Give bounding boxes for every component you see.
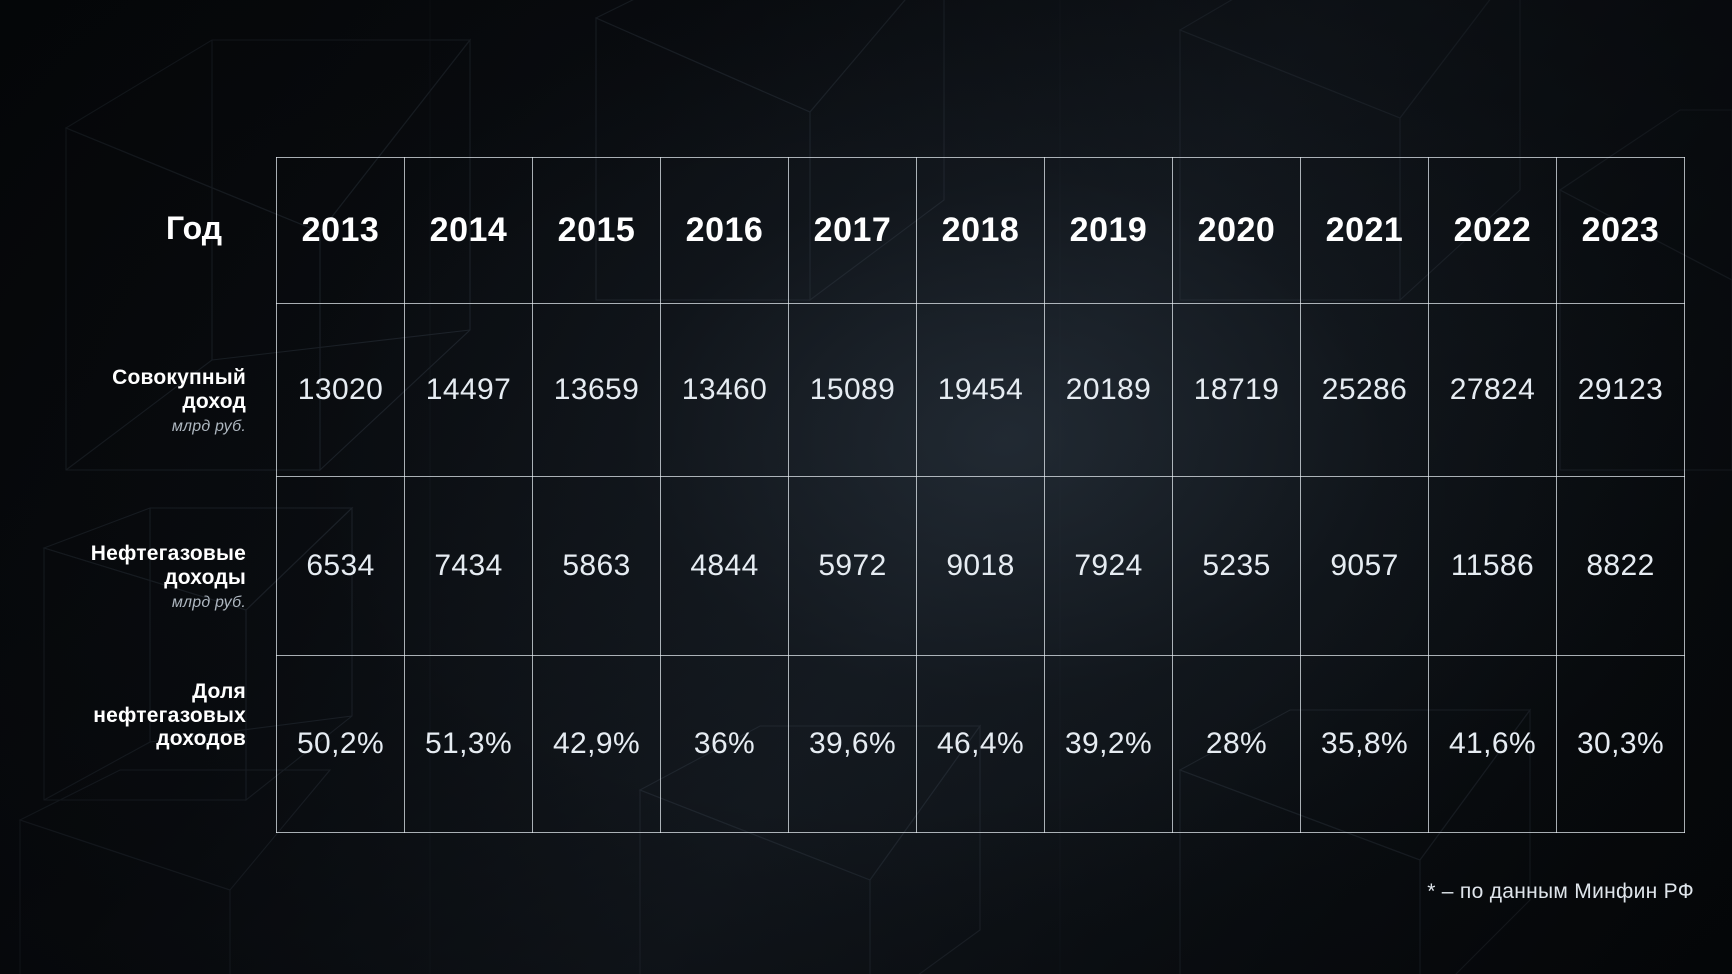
column-header-year: 2019 (1045, 158, 1173, 304)
table-header-row: 2013 2014 2015 2016 2017 2018 2019 2020 … (277, 158, 1685, 304)
table-row: 13020 14497 13659 13460 15089 19454 2018… (277, 304, 1685, 477)
table-cell: 19454 (917, 304, 1045, 477)
row-label-oil-gas-income-unit: млрд руб. (0, 594, 246, 612)
table-cell: 13659 (533, 304, 661, 477)
table-cell: 39,6% (789, 656, 917, 833)
table-cell: 5972 (789, 477, 917, 656)
column-header-year: 2013 (277, 158, 405, 304)
table-cell: 8822 (1557, 477, 1685, 656)
row-label-oil-gas-income: Нефтегазовые доходы млрд руб. (0, 542, 246, 612)
table-cell: 5235 (1173, 477, 1301, 656)
table-cell: 42,9% (533, 656, 661, 833)
table-cell: 7924 (1045, 477, 1173, 656)
table-cell: 29123 (1557, 304, 1685, 477)
row-label-year: Год (0, 210, 246, 247)
row-label-oil-gas-income-line2: доходы (164, 566, 246, 589)
row-label-oil-gas-share: Доля нефтегазовых доходов (0, 680, 246, 751)
table-cell: 6534 (277, 477, 405, 656)
table-cell: 14497 (405, 304, 533, 477)
row-label-total-income-line2: доход (182, 390, 246, 413)
table-cell: 5863 (533, 477, 661, 656)
table-cell: 50,2% (277, 656, 405, 833)
column-header-year: 2020 (1173, 158, 1301, 304)
table-cell: 51,3% (405, 656, 533, 833)
row-label-oil-gas-share-line1: Доля (192, 680, 246, 703)
table-cell: 46,4% (917, 656, 1045, 833)
table-cell: 13460 (661, 304, 789, 477)
data-table: 2013 2014 2015 2016 2017 2018 2019 2020 … (276, 157, 1685, 833)
table-cell: 20189 (1045, 304, 1173, 477)
source-footnote: * – по данным Минфин РФ (1427, 880, 1694, 904)
table-cell: 30,3% (1557, 656, 1685, 833)
table-cell: 27824 (1429, 304, 1557, 477)
row-label-oil-gas-share-line3: доходов (156, 727, 246, 750)
table-cell: 28% (1173, 656, 1301, 833)
table-cell: 39,2% (1045, 656, 1173, 833)
table-cell: 9018 (917, 477, 1045, 656)
row-label-oil-gas-income-line1: Нефтегазовые (91, 542, 246, 565)
table-cell: 7434 (405, 477, 533, 656)
column-header-year: 2022 (1429, 158, 1557, 304)
table-cell: 9057 (1301, 477, 1429, 656)
table-cell: 18719 (1173, 304, 1301, 477)
column-header-year: 2021 (1301, 158, 1429, 304)
table-cell: 15089 (789, 304, 917, 477)
table-region: Год Совокупный доход млрд руб. Нефтегазо… (0, 0, 1732, 974)
infographic-table-slide: Год Совокупный доход млрд руб. Нефтегазо… (0, 0, 1732, 974)
table-row: 6534 7434 5863 4844 5972 9018 7924 5235 … (277, 477, 1685, 656)
table-cell: 11586 (1429, 477, 1557, 656)
column-header-year: 2018 (917, 158, 1045, 304)
row-label-total-income: Совокупный доход млрд руб. (0, 366, 246, 436)
column-header-year: 2016 (661, 158, 789, 304)
column-header-year: 2014 (405, 158, 533, 304)
table-cell: 25286 (1301, 304, 1429, 477)
table-cell: 4844 (661, 477, 789, 656)
table-row: 50,2% 51,3% 42,9% 36% 39,6% 46,4% 39,2% … (277, 656, 1685, 833)
row-label-total-income-unit: млрд руб. (0, 418, 246, 436)
column-header-year: 2017 (789, 158, 917, 304)
table-cell: 36% (661, 656, 789, 833)
table-cell: 35,8% (1301, 656, 1429, 833)
table-cell: 41,6% (1429, 656, 1557, 833)
row-label-oil-gas-share-line2: нефтегазовых (93, 704, 246, 727)
column-header-year: 2023 (1557, 158, 1685, 304)
row-label-total-income-line1: Совокупный (112, 366, 246, 389)
column-header-year: 2015 (533, 158, 661, 304)
table-cell: 13020 (277, 304, 405, 477)
